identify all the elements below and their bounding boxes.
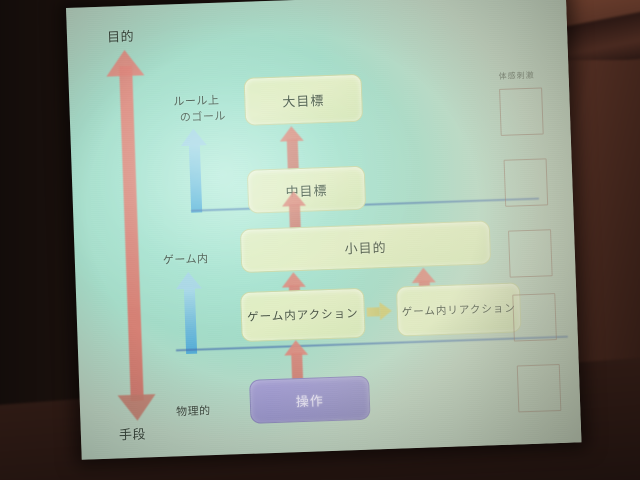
tier-label-in-game: ゲーム内 (163, 250, 209, 268)
tier-label-physical: 物理的 (176, 402, 211, 419)
slide-content: 目的 手段 ルール上 のゴール ゲーム内 物理的 大目標 中目標 (66, 0, 581, 460)
blue-arrow-in-game (175, 271, 205, 354)
box-in-game-reaction[interactable]: ゲーム内リアクション (396, 282, 522, 336)
projection-screen: 目的 手段 ルール上 のゴール ゲーム内 物理的 大目標 中目標 (66, 0, 581, 460)
red-arrow-chuu-to-dai (279, 126, 305, 173)
blue-arrow-rule-goal (180, 128, 210, 213)
box-in-game-action[interactable]: ゲーム内アクション (240, 288, 366, 342)
box-dai-mokuhyou[interactable]: 大目標 (244, 74, 364, 126)
yellow-arrow-action-to-reaction (366, 302, 393, 322)
red-arrow-sousa-to-action (284, 340, 309, 381)
divider-game-layer (176, 336, 568, 352)
means-arrow-head-down (118, 394, 157, 421)
purpose-means-axis-bar (119, 66, 144, 401)
tier-label-rule-goal-line1: ルール上 (173, 92, 220, 110)
right-column-slot[interactable] (504, 158, 549, 206)
box-chuu-mokuhyou[interactable]: 中目標 (247, 166, 366, 214)
axis-bottom-label: 手段 (119, 423, 147, 443)
projection-screen-wrap: 目的 手段 ルール上 のゴール ゲーム内 物理的 大目標 中目標 (66, 0, 581, 460)
tier-label-rule-goal-line2: のゴール (180, 107, 227, 125)
right-column-slot[interactable] (499, 87, 544, 135)
axis-top-label: 目的 (107, 26, 135, 46)
box-shou-mokuteki[interactable]: 小目的 (240, 220, 491, 273)
right-column-slot[interactable] (512, 293, 557, 341)
box-sousa[interactable]: 操作 (249, 376, 370, 424)
photo-scene: 目的 手段 ルール上 のゴール ゲーム内 物理的 大目標 中目標 (0, 0, 640, 480)
right-column-slot[interactable] (517, 364, 562, 412)
red-arrow-shou-to-chuu (282, 191, 307, 232)
right-column-slot[interactable] (508, 229, 553, 277)
right-column-header: 体感刺激 (498, 70, 534, 82)
